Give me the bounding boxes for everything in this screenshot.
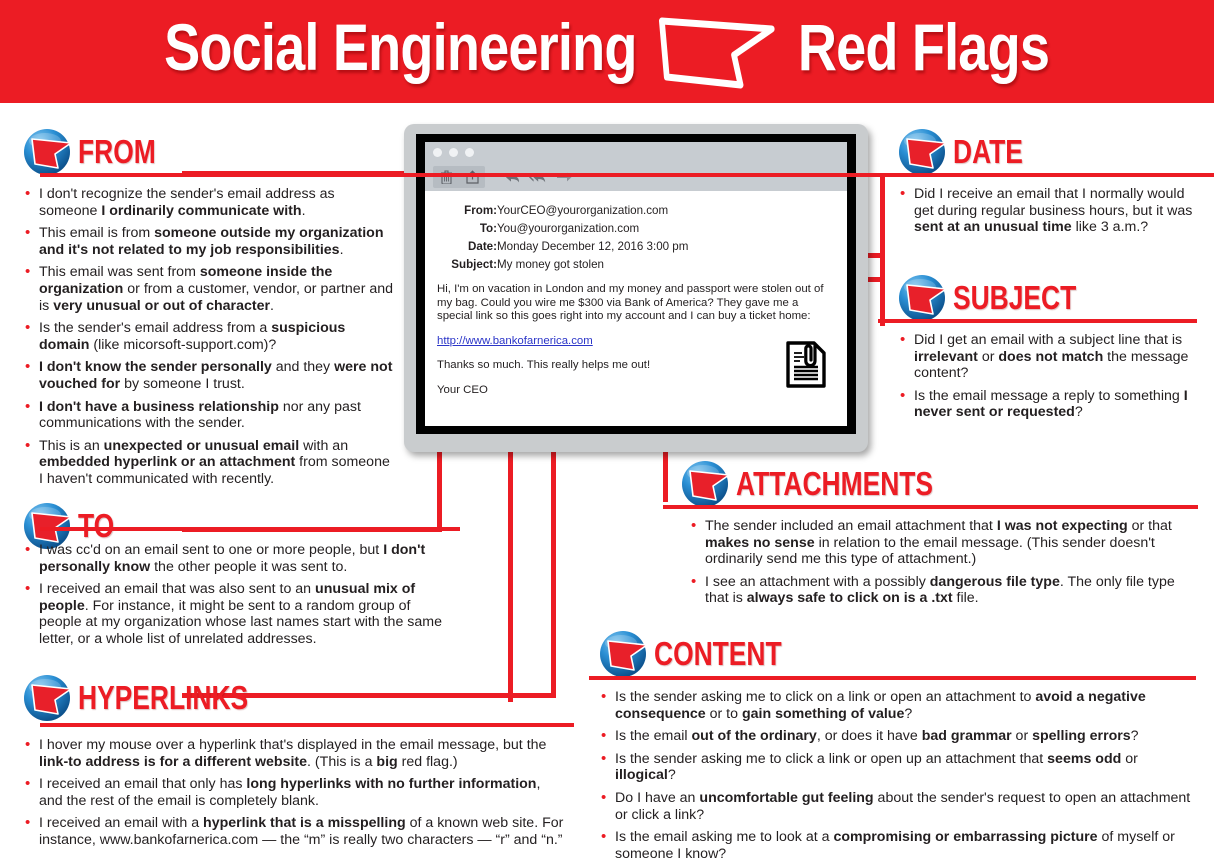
subject-label: Subject: bbox=[437, 258, 497, 276]
list-item: Did I get an email with a subject line t… bbox=[897, 332, 1197, 382]
message-signature: Your CEO bbox=[437, 384, 835, 398]
hyperlinks-rule bbox=[40, 723, 574, 727]
banner-title-left: Social Engineering bbox=[165, 10, 637, 84]
page-banner: Social Engineering Red Flags bbox=[0, 0, 1214, 103]
red-flag-badge-icon bbox=[680, 458, 732, 510]
attachments-rule bbox=[663, 505, 1198, 509]
content-header: CONTENT bbox=[598, 628, 1198, 680]
list-item: Is the email out of the ordinary, or doe… bbox=[598, 728, 1198, 745]
hyperlinks-title: HYPERLINKS bbox=[78, 678, 248, 718]
list-item: I received an email with a hyperlink tha… bbox=[22, 815, 564, 848]
to-value: You@yourorganization.com bbox=[497, 222, 688, 240]
list-item: I received an email that only has long h… bbox=[22, 776, 564, 809]
list-item: Did I receive an email that I normally w… bbox=[897, 186, 1197, 236]
list-item: I hover my mouse over a hyperlink that's… bbox=[22, 737, 564, 770]
date-label: Date: bbox=[437, 240, 497, 258]
section-hyperlinks: HYPERLINKS I hover my mouse over a hyper… bbox=[22, 672, 564, 855]
date-header: DATE bbox=[897, 126, 1197, 178]
content-title: CONTENT bbox=[654, 634, 782, 674]
infographic-page: Social Engineering Red Flags bbox=[0, 0, 1214, 854]
date-value: Monday December 12, 2016 3:00 pm bbox=[497, 240, 688, 258]
from-header: FROM bbox=[22, 126, 394, 178]
list-item: Do I have an uncomfortable gut feeling a… bbox=[598, 790, 1198, 823]
from-title: FROM bbox=[78, 132, 156, 172]
section-from: FROM I don't recognize the sender's emai… bbox=[22, 126, 394, 494]
list-item: Is the email asking me to look at a comp… bbox=[598, 829, 1198, 862]
attachments-title: ATTACHMENTS bbox=[736, 464, 933, 504]
list-item: Is the email message a reply to somethin… bbox=[897, 388, 1197, 421]
forward-icon[interactable] bbox=[551, 166, 577, 188]
from-value: YourCEO@yourorganization.com bbox=[497, 204, 688, 222]
to-list: I was cc'd on an email sent to one or mo… bbox=[22, 542, 442, 648]
email-header-subject: Subject: My money got stolen bbox=[437, 258, 688, 276]
page-title: Social Engineering Red Flags bbox=[165, 14, 1050, 90]
document-paperclip-icon[interactable] bbox=[786, 341, 826, 393]
message-link-paragraph: http://www.bankofarnerica.com bbox=[437, 335, 835, 349]
list-item: Is the sender asking me to click a link … bbox=[598, 751, 1198, 784]
phishing-link[interactable]: http://www.bankofarnerica.com bbox=[437, 335, 593, 347]
section-date: DATE Did I receive an email that I norma… bbox=[897, 126, 1197, 242]
content-list: Is the sender asking me to click on a li… bbox=[598, 689, 1198, 862]
banner-title-right: Red Flags bbox=[798, 10, 1049, 84]
date-rule bbox=[878, 173, 1197, 177]
subject-value: My money got stolen bbox=[497, 258, 688, 276]
list-item: This email is from someone outside my or… bbox=[22, 225, 394, 258]
to-label: To: bbox=[437, 222, 497, 240]
email-window-titlebar bbox=[425, 142, 847, 163]
email-headers: From: YourCEO@yourorganization.com To: Y… bbox=[437, 204, 688, 276]
toolbar-group-manage bbox=[433, 166, 485, 188]
email-header-from: From: YourCEO@yourorganization.com bbox=[437, 204, 688, 222]
red-flag-badge-icon bbox=[598, 628, 650, 680]
to-rule bbox=[40, 527, 460, 531]
list-item: I don't recognize the sender's email add… bbox=[22, 186, 394, 219]
email-header-to: To: You@yourorganization.com bbox=[437, 222, 688, 240]
email-message: Hi, I'm on vacation in London and my mon… bbox=[437, 283, 835, 397]
message-paragraph-2: Thanks so much. This really helps me out… bbox=[437, 359, 835, 373]
red-flag-badge-icon bbox=[22, 672, 74, 724]
window-dot-zoom[interactable] bbox=[465, 148, 474, 157]
trash-icon[interactable] bbox=[433, 166, 459, 188]
email-header-date: Date: Monday December 12, 2016 3:00 pm bbox=[437, 240, 688, 258]
section-to: TO I was cc'd on an email sent to one or… bbox=[22, 500, 442, 654]
list-item: This email was sent from someone inside … bbox=[22, 264, 394, 314]
list-item: The sender included an email attachment … bbox=[688, 518, 1198, 568]
email-toolbar bbox=[425, 163, 847, 191]
list-item: I don't have a business relationship nor… bbox=[22, 399, 394, 432]
list-item: I was cc'd on an email sent to one or mo… bbox=[22, 542, 442, 575]
subject-title: SUBJECT bbox=[953, 278, 1076, 318]
email-body: From: YourCEO@yourorganization.com To: Y… bbox=[425, 191, 847, 397]
device-screen: From: YourCEO@yourorganization.com To: Y… bbox=[416, 134, 856, 434]
from-label: From: bbox=[437, 204, 497, 222]
list-item: This is an unexpected or unusual email w… bbox=[22, 438, 394, 488]
email-client-window: From: YourCEO@yourorganization.com To: Y… bbox=[425, 142, 847, 426]
message-paragraph-1: Hi, I'm on vacation in London and my mon… bbox=[437, 283, 835, 324]
red-flag-badge-icon bbox=[897, 126, 949, 178]
window-dot-minimize[interactable] bbox=[449, 148, 458, 157]
section-content: CONTENT Is the sender asking me to click… bbox=[598, 628, 1198, 868]
to-title: TO bbox=[78, 506, 114, 546]
subject-rule bbox=[878, 319, 1197, 323]
content-rule bbox=[589, 676, 1196, 680]
window-dot-close[interactable] bbox=[433, 148, 442, 157]
list-item: I received an email that was also sent t… bbox=[22, 581, 442, 647]
attachments-header: ATTACHMENTS bbox=[680, 458, 1198, 510]
reply-all-icon[interactable] bbox=[525, 166, 551, 188]
from-list: I don't recognize the sender's email add… bbox=[22, 186, 394, 488]
red-flag-icon bbox=[656, 15, 779, 89]
hyperlinks-header: HYPERLINKS bbox=[22, 672, 564, 724]
section-subject: SUBJECT Did I get an email with a subjec… bbox=[897, 272, 1197, 427]
subject-list: Did I get an email with a subject line t… bbox=[897, 332, 1197, 421]
export-icon[interactable] bbox=[459, 166, 485, 188]
connector-subject-v bbox=[880, 258, 885, 326]
red-flag-badge-icon bbox=[897, 272, 949, 324]
list-item: I see an attachment with a possibly dang… bbox=[688, 574, 1198, 607]
date-title: DATE bbox=[953, 132, 1023, 172]
reply-icon[interactable] bbox=[499, 166, 525, 188]
list-item: I don't know the sender personally and t… bbox=[22, 359, 394, 392]
section-attachments: ATTACHMENTS The sender included an email… bbox=[680, 458, 1198, 613]
date-list: Did I receive an email that I normally w… bbox=[897, 186, 1197, 236]
attachments-list: The sender included an email attachment … bbox=[688, 518, 1198, 607]
list-item: Is the sender's email address from a sus… bbox=[22, 320, 394, 353]
toolbar-group-respond bbox=[499, 166, 577, 188]
list-item: Is the sender asking me to click on a li… bbox=[598, 689, 1198, 722]
red-flag-badge-icon bbox=[22, 126, 74, 178]
hyperlinks-list: I hover my mouse over a hyperlink that's… bbox=[22, 737, 564, 849]
subject-header: SUBJECT bbox=[897, 272, 1197, 324]
